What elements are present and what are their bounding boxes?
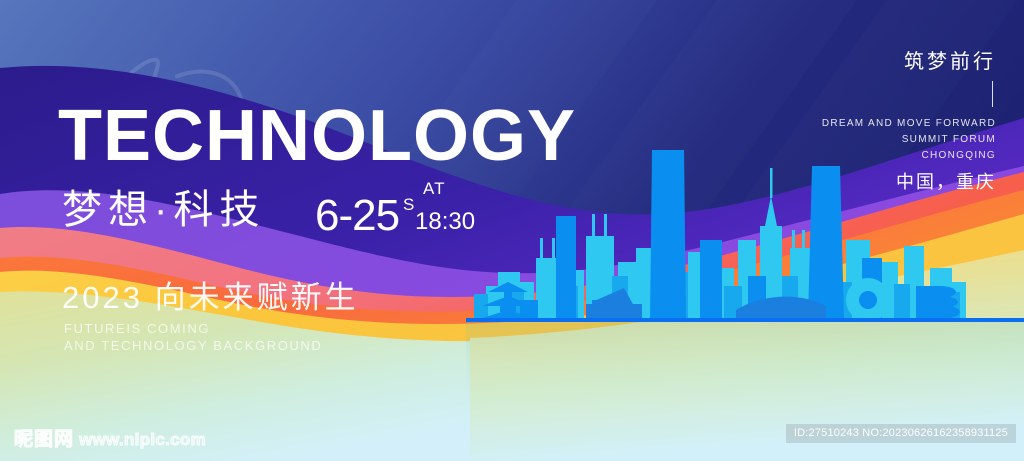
english-subtitle: FUTUREIS COMING AND TECHNOLOGY BACKGROUN… bbox=[64, 320, 322, 354]
subtitle-chinese: 梦想·科技 bbox=[62, 188, 265, 232]
right-title-chinese: 筑梦前行 bbox=[822, 50, 996, 74]
watermark-url: www.nipic.com bbox=[79, 430, 206, 450]
temple-right bbox=[920, 286, 960, 319]
year-slogan: 2023 向未来赋新生 bbox=[62, 281, 359, 315]
reflection-fade bbox=[466, 318, 1024, 414]
page-title: TECHNOLOGY bbox=[58, 100, 576, 172]
landmark-center-tower bbox=[650, 150, 686, 320]
event-time: 18:30 bbox=[415, 210, 475, 234]
right-city-chinese: 中国，重庆 bbox=[822, 171, 996, 193]
divider-rule bbox=[992, 81, 993, 107]
poster-canvas: TECHNOLOGY 梦想·科技 6-25 S AT 18:30 2023 向未… bbox=[0, 0, 1024, 461]
english-subtitle-line1: FUTUREIS COMING bbox=[64, 320, 322, 337]
event-date-ordinal: S bbox=[403, 196, 414, 213]
right-en-line1: DREAM AND MOVE FORWARD bbox=[822, 116, 996, 132]
event-date: 6-25 bbox=[315, 194, 399, 238]
site-watermark: 昵图网 www.nipic.com bbox=[14, 429, 206, 451]
right-en-line3: CHONGQING bbox=[822, 148, 996, 164]
event-at-label: AT bbox=[423, 180, 445, 197]
ferris-wheel bbox=[846, 278, 890, 322]
right-info-block: 筑梦前行 DREAM AND MOVE FORWARD SUMMIT FORUM… bbox=[822, 50, 996, 193]
watermark-logo: 昵图网 bbox=[14, 429, 74, 451]
waterline bbox=[466, 318, 1024, 322]
english-subtitle-line2: AND TECHNOLOGY BACKGROUND bbox=[64, 337, 322, 354]
right-en-line2: SUMMIT FORUM bbox=[822, 132, 996, 148]
asset-id-badge: ID:27510243 NO:20230626162358931125 bbox=[786, 424, 1016, 443]
